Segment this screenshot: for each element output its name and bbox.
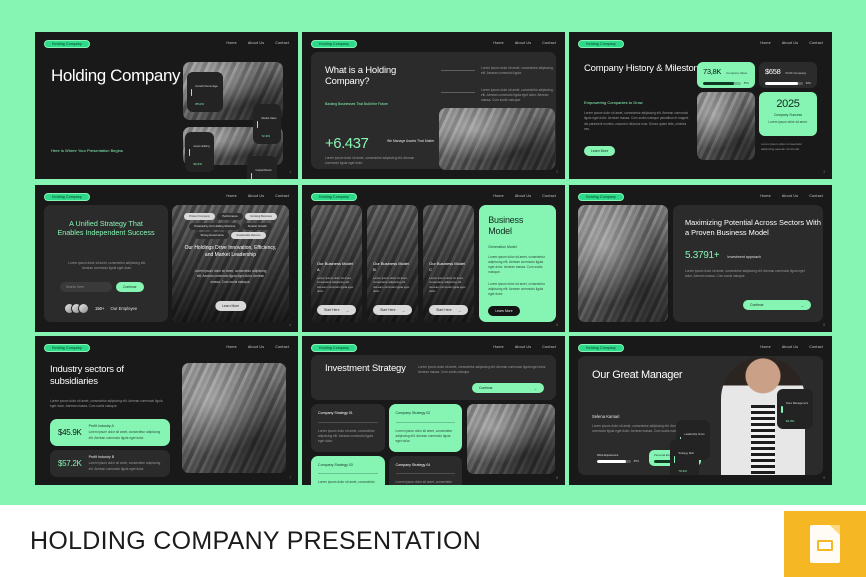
nav-about[interactable]: About Us — [782, 345, 798, 349]
stat-percent: 85% — [744, 82, 749, 85]
celebration-image — [182, 363, 286, 473]
nav-home[interactable]: Home — [760, 194, 770, 198]
arrow-right-icon: → — [345, 308, 349, 313]
business-model-panel: Business Model Generation Model Lorem ip… — [479, 205, 556, 322]
nav-about[interactable]: About Us — [515, 194, 531, 198]
quote-text: Lorem ipsum dolor consectetur adipiscing… — [761, 142, 816, 151]
stat-tag: Asset Holding90.2% — [185, 132, 214, 172]
start-here-label: Start Here — [436, 308, 451, 312]
continue-button[interactable]: Continue → — [743, 300, 811, 310]
tag-value: 92.0% — [786, 419, 795, 423]
stat-tag: Capital Return66.8% — [247, 156, 277, 179]
card-title: Our Business Model A — [317, 261, 356, 272]
profit-card-a: $45.9K Profit Industry A Lorem ipsum dol… — [50, 419, 170, 446]
stat-label: Investment approach — [727, 255, 761, 260]
nav-home[interactable]: Home — [493, 41, 503, 45]
slide-nav[interactable]: Home About Us Contact — [493, 194, 556, 198]
presentation-preview-page: Holding Company Home About Us Contact Ho… — [0, 0, 866, 577]
employee-row: 150+ Our Employee — [64, 303, 137, 314]
brand-label: Holding Company — [319, 42, 349, 46]
bullet-line-icon — [441, 70, 475, 71]
cell-title: Company Strategy 01 — [318, 411, 378, 416]
slide-nav[interactable]: Home About Us Contact — [493, 41, 556, 45]
profit-card-b: $57.2K Profit Industry B Lorem ipsum dol… — [50, 450, 170, 477]
progress-bar — [703, 82, 741, 85]
nav-contact[interactable]: Contact — [542, 194, 556, 198]
stat-value: 73,8K — [703, 67, 721, 76]
page-number: 4 — [289, 323, 291, 327]
progress-bar — [597, 460, 631, 463]
stat-tag: Strategy Skill79.3% — [670, 439, 699, 475]
slide-nav[interactable]: Home About Us Contact — [493, 345, 556, 349]
card-title: Our Business Model B — [373, 261, 412, 272]
headline-stat-label: We Manage Assets That Matter — [387, 139, 434, 144]
tag-chip[interactable]: Smarter Growth — [243, 223, 272, 230]
arrow-right-icon: → — [401, 308, 405, 313]
year-card: 2025 Company Success Lorem ipsum dolor s… — [759, 92, 817, 136]
brand-label: Holding Company — [586, 42, 616, 46]
nav-about[interactable]: About Us — [515, 41, 531, 45]
page-title: Our Great Manager — [592, 369, 682, 382]
stat-label: Profit Industry B — [89, 455, 162, 459]
brand-label: Holding Company — [319, 346, 349, 350]
slide-nav[interactable]: Home About Us Contact — [226, 41, 289, 45]
slide-2-what-is-holding[interactable]: Holding Company Home About Us Contact Wh… — [302, 30, 565, 179]
brand-pill: Holding Company — [578, 193, 624, 201]
brand-label: Holding Company — [52, 195, 82, 199]
content-card: What is a Holding Company? Backing Busin… — [311, 52, 556, 169]
page-title: Maximizing Potential Across Sectors With… — [685, 218, 823, 238]
slide-9-great-manager[interactable]: Holding Company Home About Us Contact Ou… — [569, 336, 832, 485]
avatar — [78, 303, 89, 314]
cell-text: Lorem ipsum dolor sit amet, consectetur … — [396, 480, 456, 485]
page-number: 7 — [289, 476, 291, 480]
headline-stat-value: +6.437 — [325, 135, 368, 152]
start-here-label: Start Here — [380, 308, 395, 312]
nav-about[interactable]: About Us — [248, 194, 264, 198]
tag-label: Market Value — [261, 117, 276, 120]
brand-label: Holding Company — [52, 346, 82, 350]
brand-label: Holding Company — [52, 42, 82, 46]
brand-pill: Holding Company — [311, 193, 357, 201]
page-number: 5 — [556, 323, 558, 327]
brand-label: Holding Company — [319, 195, 349, 199]
start-here-button[interactable]: Start Here → — [373, 305, 412, 315]
learn-more-button[interactable]: Learn More — [488, 306, 519, 316]
tag-label: Team Management — [786, 402, 808, 405]
nav-contact[interactable]: Contact — [542, 41, 556, 45]
slide-4-unified-strategy[interactable]: Holding Company Home About Us Contact A … — [35, 183, 298, 332]
page-number: 1 — [289, 170, 291, 174]
slide-deck-grid: Holding Company Home About Us Contact Ho… — [35, 30, 832, 485]
strategy-grid: Company Strategy 01 Lorem ipsum dolor si… — [311, 404, 462, 474]
page-title: Company History & Milestones — [584, 63, 709, 74]
cell-text: Lorem ipsum dolor sit amet, consectetur … — [396, 429, 456, 445]
cell-title: Company Strategy 03 — [318, 463, 378, 468]
stat-value: $45.9K — [58, 428, 82, 437]
arrow-right-icon: → — [533, 386, 537, 391]
tag-chip[interactable]: Performance — [217, 213, 242, 220]
tag-label: Capital Return — [255, 169, 272, 172]
body-text: Lorem ipsum dolor sit amet, consectetur … — [50, 399, 168, 410]
tag-list: Protect Company Performance Growing Busi… — [178, 213, 283, 239]
body-text: Lorem ipsum dolor sit amet, consectetur … — [592, 424, 688, 435]
cell-text: Lorem ipsum dolor sit amet, consectetur … — [318, 480, 378, 485]
brand-pill: Holding Company — [44, 344, 90, 352]
slide-subtitle: Backing Businesses That Build the Future — [325, 102, 388, 107]
building-image: Protect Company Performance Growing Busi… — [172, 205, 289, 322]
nav-home[interactable]: Home — [760, 345, 770, 349]
tag-accent-bar — [674, 456, 675, 463]
tag-label: Asset Holding — [193, 145, 209, 148]
team-image — [578, 205, 668, 322]
tag-chip[interactable]: Protect Company — [184, 213, 215, 220]
manager-name: Selena Kamari — [592, 414, 619, 419]
brand-label: Holding Company — [586, 195, 616, 199]
stat-label: Profit Company — [786, 71, 807, 75]
year-note: Lorem ipsum dolor sit amet. — [765, 120, 811, 125]
continue-button[interactable]: Continue — [116, 282, 144, 292]
search-input[interactable]: Search Here — [60, 282, 112, 292]
stat-card-profit-company: $658 Profit Company 90% — [759, 62, 817, 88]
stat-tag: Growth Percentage85.0% — [187, 72, 223, 112]
stat-card-company-value: 73,8K Company Value 85% — [697, 62, 755, 88]
stat-label: Company Value — [726, 71, 747, 75]
tag-value: 90.2% — [193, 162, 202, 166]
google-slides-badge — [784, 511, 866, 577]
model-card-b[interactable]: Our Business Model B Lorem ipsum dolor s… — [367, 205, 418, 322]
page-number: 2 — [556, 170, 558, 174]
tag-chip[interactable]: Growing Business — [245, 213, 277, 220]
bullet-list: Lorem ipsum dolor sit amet, consectetur … — [441, 66, 556, 103]
card-text: Lorem ipsum dolor sit amet, consectetur … — [429, 276, 468, 293]
slide-subtitle: Empowering Companies to Grow — [584, 100, 643, 105]
divider — [318, 422, 378, 423]
nav-about[interactable]: About Us — [782, 41, 798, 45]
body-text: Lorem ipsum dolor sit amet, consectetur … — [488, 282, 547, 298]
stat-row: 5.3791+ Investment approach — [685, 250, 811, 261]
stat-value: $658 — [765, 67, 781, 76]
tag-chip[interactable]: Powered by Our Holding Structure — [189, 223, 240, 230]
list-item: Lorem ipsum dolor sit amet, consectetur … — [441, 66, 556, 77]
stat-label: Profit Industry A — [89, 424, 162, 428]
brand-pill: Holding Company — [311, 344, 357, 352]
list-item: Lorem ipsum dolor sit amet, consectetur … — [441, 88, 556, 104]
page-title: Holding Company — [51, 66, 180, 85]
nav-contact[interactable]: Contact — [809, 194, 823, 198]
nav-contact[interactable]: Contact — [809, 41, 823, 45]
nav-home[interactable]: Home — [226, 194, 236, 198]
tag-label: Leadership Score — [684, 433, 704, 436]
slide-nav[interactable]: Home About Us Contact — [226, 194, 289, 198]
stat-tag: Team Management92.0% — [777, 389, 813, 429]
learn-more-button[interactable]: Learn More — [584, 146, 615, 156]
slide-nav[interactable]: Home About Us Contact — [760, 194, 823, 198]
tag-chip[interactable]: Strong Governance — [195, 232, 228, 239]
body-text: Lorem ipsum dolor sit amet, consectetur … — [194, 269, 267, 285]
page-number: 6 — [823, 323, 825, 327]
page-number: 3 — [823, 170, 825, 174]
card-text: Lorem ipsum dolor sit amet, consectetur … — [373, 276, 412, 293]
nav-about[interactable]: About Us — [515, 345, 531, 349]
page-title: What is a Holding Company? — [325, 65, 435, 87]
strategy-card: A Unified Strategy That Enables Independ… — [44, 205, 168, 322]
stat-value: 5.3791+ — [685, 250, 719, 261]
body-text: Lorem ipsum dolor sit amet, consectetur … — [418, 365, 548, 376]
body-text: Lorem ipsum dolor sit amet, consectetur … — [685, 269, 810, 280]
bullet-text: Lorem ipsum dolor sit amet, consectetur … — [481, 66, 556, 77]
strategy-cell-04[interactable]: Company Strategy 04 Lorem ipsum dolor si… — [389, 456, 463, 485]
tag-accent-bar — [191, 89, 192, 96]
brand-pill: Holding Company — [578, 344, 624, 352]
nav-contact[interactable]: Contact — [542, 345, 556, 349]
page-title: Investment Strategy — [325, 363, 406, 374]
slide-6-maximizing-potential[interactable]: Holding Company Home About Us Contact Ma… — [569, 183, 832, 332]
page-number: 8 — [556, 476, 558, 480]
slide-subtitle: Generation Model — [488, 245, 547, 249]
stat-note: Lorem ipsum dolor sit amet, consectetur … — [89, 430, 162, 441]
year-label: Company Success — [765, 113, 811, 117]
nav-home[interactable]: Home — [493, 345, 503, 349]
cell-title: Company Strategy 02 — [396, 411, 456, 416]
employee-count: 150+ — [95, 306, 104, 311]
start-here-button[interactable]: Start Here → — [429, 305, 468, 315]
model-card-c[interactable]: Our Business Model C Lorem ipsum dolor s… — [423, 205, 474, 322]
slide-3-history-milestones[interactable]: Holding Company Home About Us Contact Co… — [569, 30, 832, 179]
page-title: Business Model — [488, 215, 547, 237]
body-text: Lorem ipsum dolor sit amet, consectetur … — [488, 255, 547, 276]
avatar-group — [64, 303, 89, 314]
divider — [396, 422, 456, 423]
bullet-text: Lorem ipsum dolor sit amet, consectetur … — [481, 88, 556, 104]
tag-value: 79.3% — [678, 469, 687, 473]
arrow-right-icon: → — [457, 308, 461, 313]
slide-1-cover[interactable]: Holding Company Home About Us Contact Ho… — [35, 30, 298, 179]
start-here-label: Start Here — [324, 308, 339, 312]
page-title: A Unified Strategy That Enables Independ… — [56, 219, 156, 238]
cover-subtitle: Here Is Where Your Presentation Begins — [51, 148, 123, 153]
brand-pill: Holding Company — [44, 40, 90, 48]
body-text: Lorem ipsum dolor sit amet, consectetur … — [325, 156, 429, 167]
section-heading: Our Holdings Drive Innovation, Efficienc… — [182, 245, 279, 259]
slide-nav[interactable]: Home About Us Contact — [760, 345, 823, 349]
nav-home[interactable]: Home — [226, 345, 236, 349]
model-card-a[interactable]: Our Business Model A Lorem ipsum dolor s… — [311, 205, 362, 322]
nav-about[interactable]: About Us — [248, 41, 264, 45]
continue-label: Continue — [750, 303, 764, 307]
tag-accent-bar — [189, 149, 190, 156]
slide-5-business-model[interactable]: Holding Company Home About Us Contact Ou… — [302, 183, 565, 332]
nav-contact[interactable]: Contact — [275, 41, 289, 45]
year-value: 2025 — [765, 98, 811, 110]
strategy-cell-03[interactable]: Company Strategy 03 Lorem ipsum dolor si… — [311, 456, 385, 485]
slide-8-investment-strategy[interactable]: Holding Company Home About Us Contact In… — [302, 336, 565, 485]
body-text: Lorem ipsum dolor sit amet, consectetur … — [584, 111, 689, 132]
nav-contact[interactable]: Contact — [809, 345, 823, 349]
tag-accent-bar — [257, 121, 258, 128]
nav-home[interactable]: Home — [226, 41, 236, 45]
skill-label: Work Experience — [597, 453, 639, 457]
brand-label: Holding Company — [586, 346, 616, 350]
divider — [396, 473, 456, 474]
nav-about[interactable]: About Us — [782, 194, 798, 198]
tag-label: Growth Percentage — [195, 85, 217, 88]
divider — [318, 473, 378, 474]
card-title: Our Business Model C — [429, 261, 468, 272]
progress-bar — [765, 82, 803, 85]
stat-note: Lorem ipsum dolor sit amet, consectetur … — [89, 461, 162, 472]
body-text: Lorem ipsum dolor sit amet, consectetur … — [64, 261, 150, 272]
start-here-button[interactable]: Start Here → — [317, 305, 356, 315]
caption-bar: HOLDING COMPANY PRESENTATION — [0, 505, 866, 577]
nav-contact[interactable]: Contact — [275, 194, 289, 198]
employee-label: Our Employee — [110, 306, 137, 311]
cell-text: Lorem ipsum dolor sit amet, consectetur … — [318, 429, 378, 445]
brand-pill: Holding Company — [311, 40, 357, 48]
continue-label: Continue — [479, 386, 493, 390]
stat-tag: Market Value72.4% — [253, 104, 281, 144]
arrow-right-icon: → — [800, 303, 804, 308]
card-text: Lorem ipsum dolor sit amet, consectetur … — [317, 276, 356, 293]
tag-value: 72.4% — [261, 134, 270, 138]
content-card: Maximizing Potential Across Sectors With… — [673, 205, 823, 322]
strategy-cell-01[interactable]: Company Strategy 01 Lorem ipsum dolor si… — [311, 404, 385, 452]
tag-value: 85.0% — [195, 102, 204, 106]
cell-title: Company Strategy 04 — [396, 463, 456, 468]
history-image — [697, 92, 755, 160]
slide-7-industry-sectors[interactable]: Holding Company Home About Us Contact In… — [35, 336, 298, 485]
skill-percent: 85% — [634, 460, 639, 463]
skill-bar-work: Work Experience 85% — [592, 450, 644, 466]
tag-label: Strategy Skill — [678, 452, 693, 455]
brand-pill: Holding Company — [578, 40, 624, 48]
nav-about[interactable]: About Us — [248, 345, 264, 349]
google-slides-icon — [810, 525, 840, 563]
laptop-team-image — [467, 404, 555, 474]
slide-screen-icon — [817, 540, 833, 551]
nav-home[interactable]: Home — [760, 41, 770, 45]
nav-contact[interactable]: Contact — [275, 345, 289, 349]
page-title: Industry sectors of subsidiaries — [50, 364, 170, 387]
header-card: Investment Strategy Lorem ipsum dolor si… — [311, 355, 556, 400]
strategy-cell-02[interactable]: Company Strategy 02 Lorem ipsum dolor si… — [389, 404, 463, 452]
stat-percent: 90% — [806, 82, 811, 85]
tag-chip[interactable]: Sustainable Returns — [231, 232, 265, 239]
manager-card: Our Great Manager Selena Kamari Lorem ip… — [578, 356, 823, 475]
presentation-title: HOLDING COMPANY PRESENTATION — [30, 527, 481, 556]
page-number: 9 — [823, 476, 825, 480]
meeting-image — [439, 108, 555, 170]
nav-home[interactable]: Home — [493, 194, 503, 198]
learn-more-button[interactable]: Learn More — [215, 301, 246, 311]
model-card-row: Our Business Model A Lorem ipsum dolor s… — [311, 205, 556, 322]
slide-nav[interactable]: Home About Us Contact — [226, 345, 289, 349]
stat-value: $57.2K — [58, 459, 82, 468]
continue-button[interactable]: Continue → — [472, 383, 544, 393]
tag-accent-bar — [251, 173, 252, 180]
slide-nav[interactable]: Home About Us Contact — [760, 41, 823, 45]
tag-accent-bar — [781, 406, 782, 413]
bullet-line-icon — [441, 92, 475, 93]
search-row[interactable]: Search Here Continue — [60, 282, 144, 292]
brand-pill: Holding Company — [44, 193, 90, 201]
